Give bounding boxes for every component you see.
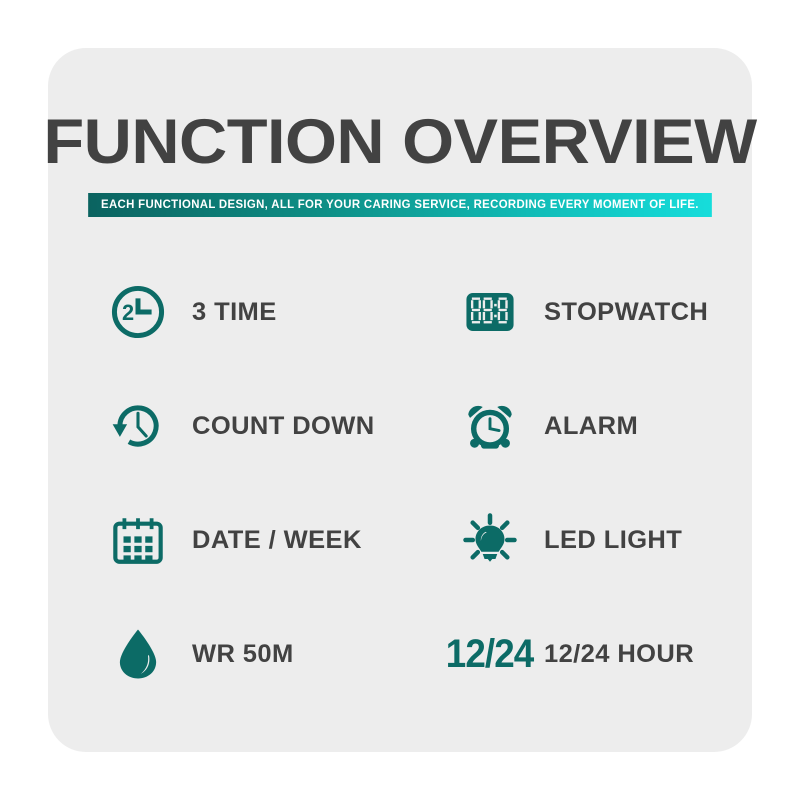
- function-overview-card: FUNCTION OVERVIEW EACH FUNCTIONAL DESIGN…: [48, 48, 752, 752]
- feature-item-count-down[interactable]: COUNT DOWN: [48, 369, 400, 483]
- feature-label: ALARM: [544, 412, 638, 441]
- feature-item-wr-50m[interactable]: WR 50M: [48, 597, 400, 711]
- clock-3-time-icon: 2: [106, 280, 170, 344]
- feature-label: LED LIGHT: [544, 526, 682, 555]
- feature-item-3-time[interactable]: 2 3 TIME: [48, 255, 400, 369]
- header: FUNCTION OVERVIEW EACH FUNCTIONAL DESIGN…: [48, 48, 752, 217]
- feature-item-alarm[interactable]: ALARM: [400, 369, 752, 483]
- water-drop-icon: [106, 622, 170, 686]
- page-title: FUNCTION OVERVIEW: [27, 48, 773, 174]
- light-bulb-icon: [458, 508, 522, 572]
- calendar-icon: [106, 508, 170, 572]
- feature-item-stopwatch[interactable]: STOPWATCH: [400, 255, 752, 369]
- feature-label: COUNT DOWN: [192, 412, 375, 441]
- feature-item-date-week[interactable]: DATE / WEEK: [48, 483, 400, 597]
- count-down-clock-icon: [106, 394, 170, 458]
- feature-item-12-24-hour[interactable]: 12/24 12/24 HOUR: [400, 597, 752, 711]
- subtitle-banner: EACH FUNCTIONAL DESIGN, ALL FOR YOUR CAR…: [48, 193, 752, 217]
- stopwatch-digital-icon: [458, 280, 522, 344]
- alarm-clock-icon: [458, 394, 522, 458]
- feature-label: 12/24 HOUR: [544, 640, 694, 669]
- feature-label: STOPWATCH: [544, 298, 708, 327]
- twelve-twentyfour-icon: 12/24: [458, 622, 522, 686]
- feature-label: 3 TIME: [192, 298, 277, 327]
- feature-item-led-light[interactable]: LED LIGHT: [400, 483, 752, 597]
- svg-text:2: 2: [122, 300, 134, 325]
- feature-label: WR 50M: [192, 640, 294, 669]
- feature-label: DATE / WEEK: [192, 526, 362, 555]
- twelve-twentyfour-text: 12/24: [446, 634, 534, 674]
- subtitle-text: EACH FUNCTIONAL DESIGN, ALL FOR YOUR CAR…: [88, 193, 712, 217]
- feature-grid: 2 3 TIME: [48, 255, 752, 711]
